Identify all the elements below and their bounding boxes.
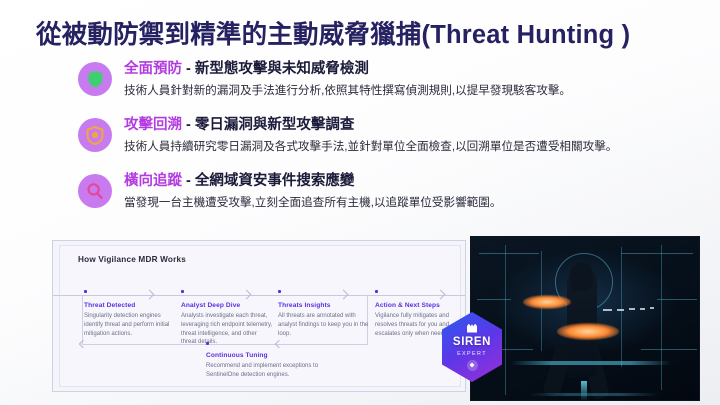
feature-rest: 全網域資安事件搜索應變: [195, 173, 355, 189]
figure-head: [570, 263, 593, 291]
feature-heading: 橫向追蹤 - 全網域資安事件搜索應變: [124, 172, 698, 191]
floor-light-bar: [511, 361, 671, 365]
feature-separator: -: [182, 61, 195, 77]
feature-lead: 橫向追蹤: [124, 173, 182, 189]
tracer-dash-icon: [603, 309, 612, 311]
tracer-dash-icon: [650, 307, 654, 309]
shield-check-icon: [78, 62, 112, 96]
workflow-step: Threat Detected Singularity detection en…: [84, 290, 176, 338]
grid-line-icon: [641, 349, 697, 350]
feature-body: 技術人員針對新的漏洞及手法進行分析,依照其特性撰寫偵測規則,以提早發現駭客攻擊。: [124, 82, 698, 99]
list-item: 橫向追蹤 - 全網域資安事件搜索應變 當發現一台主機遭受攻擊,立刻全面追查所有主…: [78, 172, 698, 228]
diagram-title: How Vigilance MDR Works: [78, 255, 186, 264]
magnifier-icon: [78, 174, 112, 208]
feature-heading: 攻擊回溯 - 零日漏洞與新型攻擊調查: [124, 116, 698, 135]
shield-target-icon: [78, 118, 112, 152]
grid-line-icon: [479, 253, 539, 254]
gem-inner-icon: [470, 363, 475, 368]
step-marker-dot: [206, 342, 209, 345]
feature-heading: 全面預防 - 新型態攻擊與未知威脅檢測: [124, 60, 698, 79]
step-title: Continuous Tuning: [206, 352, 330, 359]
grid-line-icon: [505, 245, 506, 395]
feature-body: 技術人員持續研究零日漏洞及各式攻擊手法,並針對單位全面檢查,以回溯單位是否遭受相…: [124, 138, 698, 155]
tracer-dash-icon: [617, 309, 624, 311]
step-marker-dot: [278, 290, 281, 293]
beam-light-icon: [581, 381, 587, 401]
workflow-step: Analyst Deep Dive Analysts investigate e…: [181, 290, 273, 347]
feature-rest: 零日漏洞與新型攻擊調查: [195, 117, 355, 133]
grid-line-icon: [621, 253, 693, 254]
workflow-step: Threats Insights All threats are annotat…: [278, 290, 370, 338]
grid-line-icon: [477, 299, 511, 300]
mdr-workflow-diagram: How Vigilance MDR Works Threat Detected …: [52, 240, 466, 392]
cyber-operative-illustration: [470, 236, 700, 401]
energy-disc-icon: [523, 295, 571, 309]
feature-separator: -: [182, 117, 195, 133]
gem-icon: [467, 360, 478, 371]
grid-line-icon: [661, 245, 662, 390]
step-marker-dot: [84, 290, 87, 293]
feature-lead: 攻擊回溯: [124, 117, 182, 133]
workflow-step-continuous-tuning: Continuous Tuning Recommend and implemen…: [206, 342, 330, 380]
grid-line-icon: [657, 299, 697, 300]
grid-line-icon: [621, 247, 622, 367]
step-title: Threats Insights: [278, 302, 370, 309]
step-title: Action & Next Steps: [375, 302, 466, 309]
feature-separator: -: [182, 173, 195, 189]
step-marker-dot: [181, 290, 184, 293]
tracer-dash-icon: [629, 308, 635, 310]
crown-icon: [467, 324, 477, 333]
badge-title: SIREN: [453, 336, 491, 348]
feature-list: 全面預防 - 新型態攻擊與未知威脅檢測 技術人員針對新的漏洞及手法進行分析,依照…: [78, 60, 698, 228]
step-marker-dot: [375, 290, 378, 293]
list-item: 全面預防 - 新型態攻擊與未知威脅檢測 技術人員針對新的漏洞及手法進行分析,依照…: [78, 60, 698, 116]
energy-disc-icon: [557, 323, 619, 340]
step-title: Threat Detected: [84, 302, 176, 309]
diagram-canvas: How Vigilance MDR Works Threat Detected …: [59, 245, 461, 387]
badge-subtitle: EXPERT: [457, 351, 487, 357]
step-title: Analyst Deep Dive: [181, 302, 273, 309]
feature-lead: 全面預防: [124, 61, 182, 77]
page-title: 從被動防禦到精準的主動威脅獵捕(Threat Hunting ): [36, 14, 696, 51]
step-description: Singularity detection engines identify t…: [84, 312, 176, 338]
floor-light-bar: [529, 393, 659, 396]
media-band: How Vigilance MDR Works Threat Detected …: [0, 232, 720, 405]
list-item: 攻擊回溯 - 零日漏洞與新型攻擊調查 技術人員持續研究零日漏洞及各式攻擊手法,並…: [78, 116, 698, 172]
feature-rest: 新型態攻擊與未知威脅檢測: [195, 61, 369, 77]
tracer-dash-icon: [640, 308, 645, 310]
feature-body: 當發現一台主機遭受攻擊,立刻全面追查所有主機,以追蹤單位受影響範圍。: [124, 194, 698, 211]
step-description: Recommend and implement exceptions to Se…: [206, 362, 330, 379]
step-description: All threats are annotated with analyst f…: [278, 312, 370, 338]
